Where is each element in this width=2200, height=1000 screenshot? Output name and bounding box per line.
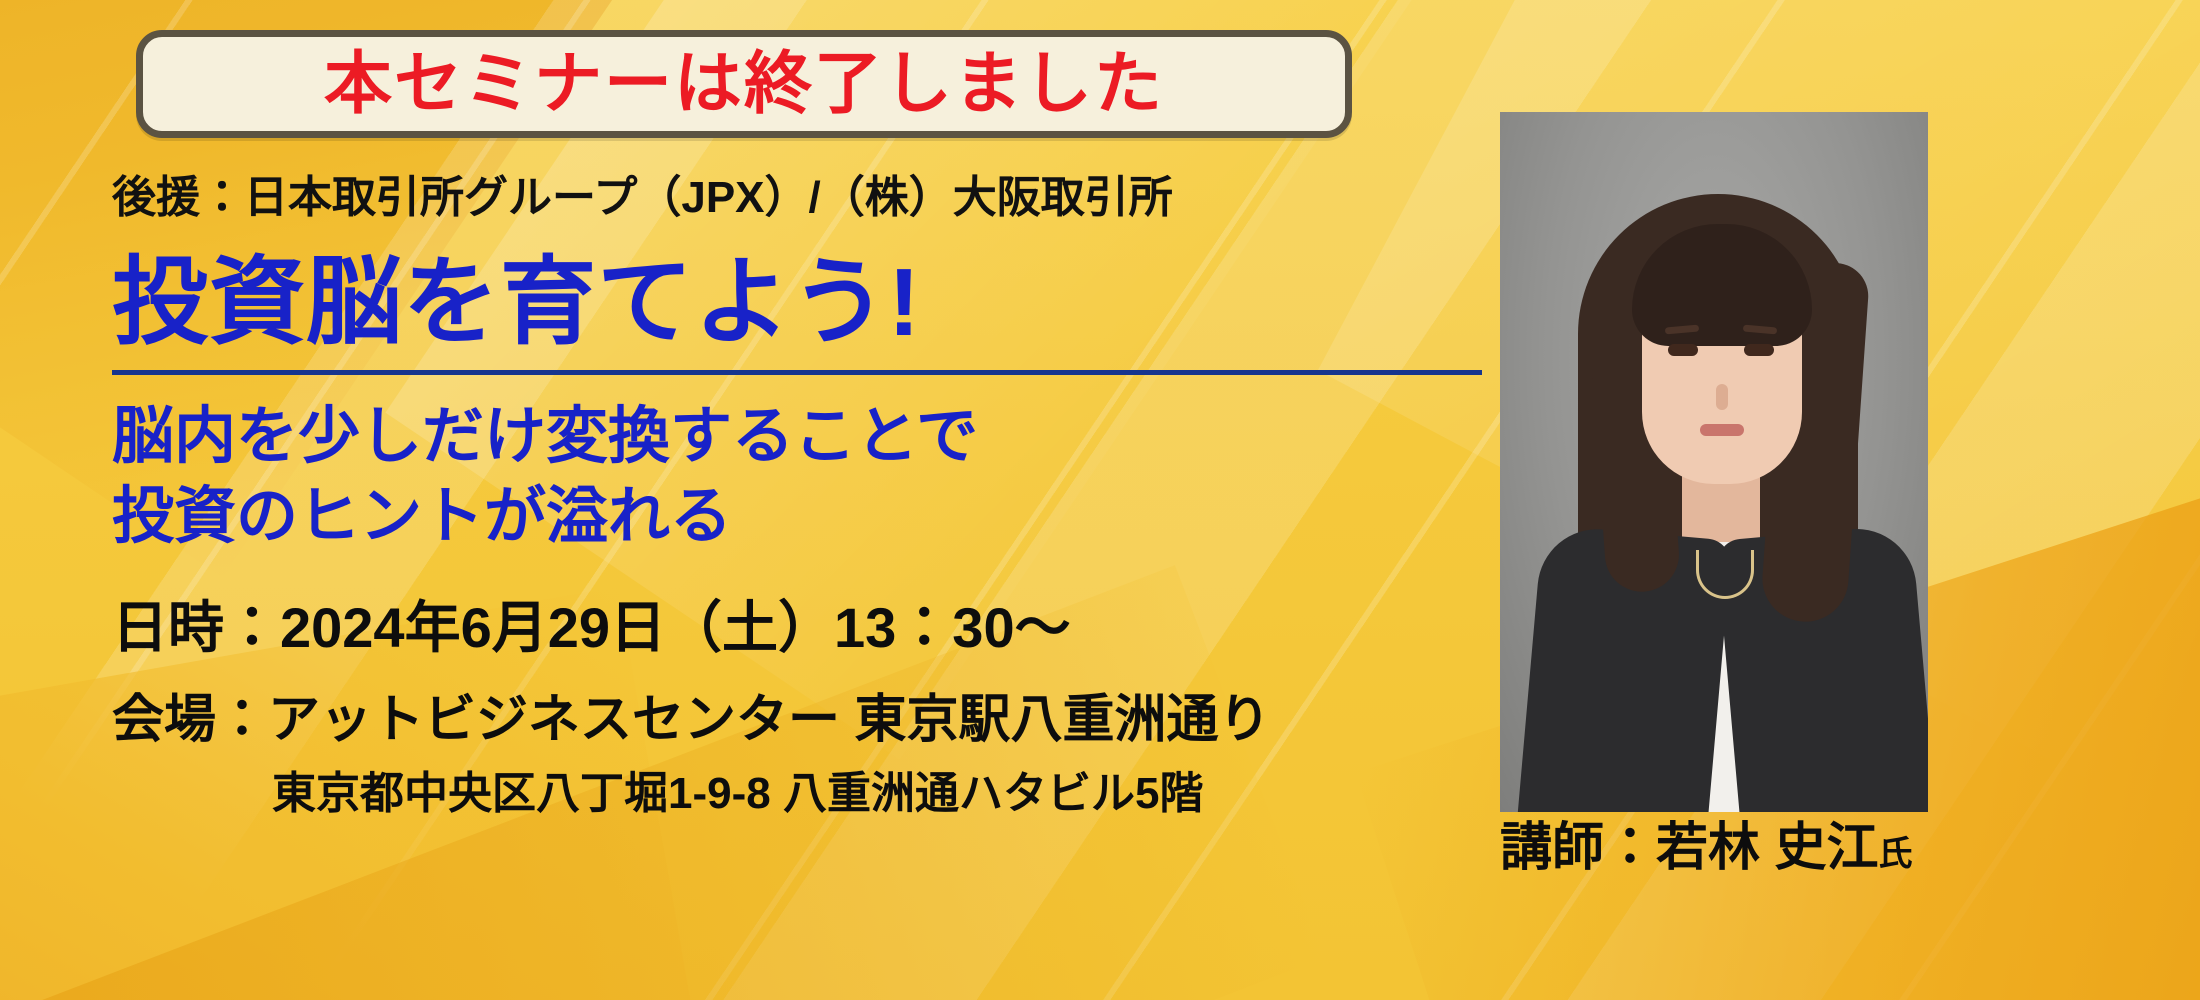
seminar-venue-address: 東京都中央区八丁堀1-9-8 八重洲通ハタビル5階 bbox=[272, 768, 1512, 821]
speaker-honorific: 氏 bbox=[1878, 835, 1912, 873]
seminar-finished-badge: 本セミナーは終了しました bbox=[136, 30, 1352, 138]
portrait-mouth bbox=[1700, 424, 1744, 436]
speaker-caption: 講師：若林 史江氏 bbox=[1500, 820, 2100, 877]
portrait-eye-left bbox=[1668, 344, 1698, 356]
seminar-venue: 会場：アットビジネスセンター 東京駅八重洲通り bbox=[112, 689, 1512, 751]
seminar-datetime: 日時：2024年6月29日（土）13：30〜 bbox=[112, 594, 1512, 661]
seminar-subtitle: 脳内を少しだけ変換することで 投資のヒントが溢れる bbox=[112, 397, 1512, 556]
seminar-main-title: 投資脳を育てよう! bbox=[112, 249, 1512, 357]
title-divider bbox=[112, 370, 1482, 375]
sponsor-line: 後援：日本取引所グループ（JPX）/（株）大阪取引所 bbox=[112, 172, 1512, 225]
speaker-name: 講師：若林 史江 bbox=[1500, 819, 1878, 877]
seminar-finished-text: 本セミナーは終了しました bbox=[324, 50, 1164, 118]
speaker-photo bbox=[1500, 112, 1928, 812]
portrait-eye-right bbox=[1744, 344, 1774, 356]
seminar-subtitle-line-2: 投資のヒントが溢れる bbox=[112, 477, 1512, 556]
left-text-column: 後援：日本取引所グループ（JPX）/（株）大阪取引所 投資脳を育てよう! 脳内を… bbox=[112, 150, 1512, 820]
seminar-subtitle-line-1: 脳内を少しだけ変換することで bbox=[112, 397, 1512, 476]
portrait-nose bbox=[1716, 384, 1728, 410]
seminar-banner: 本セミナーは終了しました 後援：日本取引所グループ（JPX）/（株）大阪取引所 … bbox=[0, 0, 2200, 1000]
banner-content: 本セミナーは終了しました 後援：日本取引所グループ（JPX）/（株）大阪取引所 … bbox=[0, 0, 2200, 1000]
